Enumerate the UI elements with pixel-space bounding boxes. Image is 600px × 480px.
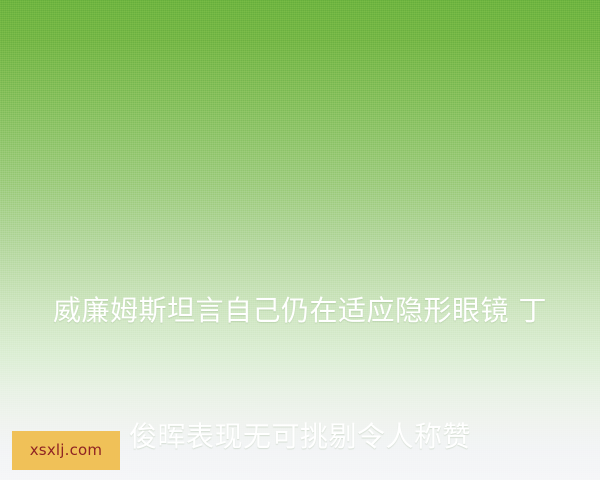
image-canvas: 威廉姆斯坦言自己仍在适应隐形眼镜 丁 俊晖表现无可挑剔令人称赞 xsxlj.co… bbox=[0, 0, 600, 480]
watermark-label: xsxlj.com bbox=[30, 443, 103, 458]
watermark-badge: xsxlj.com bbox=[12, 431, 120, 470]
headline-line-1: 威廉姆斯坦言自己仍在适应隐形眼镜 丁 bbox=[0, 290, 600, 332]
